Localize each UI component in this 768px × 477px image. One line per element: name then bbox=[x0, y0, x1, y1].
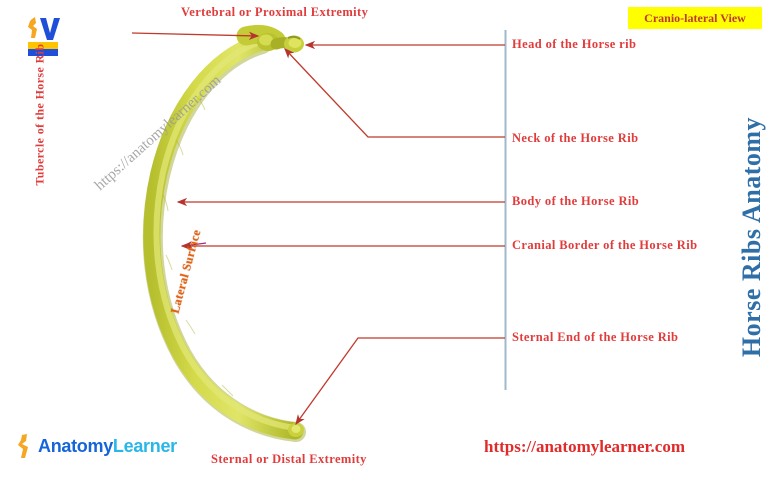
label-head-of-horse-rib: Head of the Horse rib bbox=[512, 37, 636, 52]
label-cranial-border-of-horse-rib: Cranial Border of the Horse Rib bbox=[512, 238, 697, 253]
anatomylearner-wordmark-logo: Anatomy Learner bbox=[18, 433, 177, 459]
logo-word-learner: Learner bbox=[113, 436, 177, 457]
page-title-horse-ribs-anatomy: Horse Ribs Anatomy bbox=[737, 87, 767, 387]
label-sternal-end-of-horse-rib: Sternal End of the Horse Rib bbox=[512, 330, 678, 345]
logo-word-anatomy: Anatomy bbox=[38, 436, 113, 457]
label-body-of-horse-rib: Body of the Horse Rib bbox=[512, 194, 639, 209]
caption-vertebral-extremity: Vertebral or Proximal Extremity bbox=[181, 5, 368, 20]
view-badge-label: Cranio-lateral View bbox=[644, 11, 746, 26]
view-badge: Cranio-lateral View bbox=[628, 7, 762, 29]
diagram-canvas: Cranio-lateral View Vertebral or Proxima… bbox=[0, 0, 768, 477]
footer-url: https://anatomylearner.com bbox=[484, 437, 685, 457]
leader-neck bbox=[285, 49, 505, 137]
leader-sternal-end bbox=[296, 338, 505, 424]
label-neck-of-horse-rib: Neck of the Horse Rib bbox=[512, 131, 638, 146]
label-tubercle-of-horse-rib: Tubercle of the Horse Rib bbox=[33, 20, 48, 210]
logo-figure-icon bbox=[18, 434, 36, 458]
rib-bone-shape bbox=[152, 33, 304, 437]
caption-sternal-extremity: Sternal or Distal Extremity bbox=[211, 452, 367, 467]
